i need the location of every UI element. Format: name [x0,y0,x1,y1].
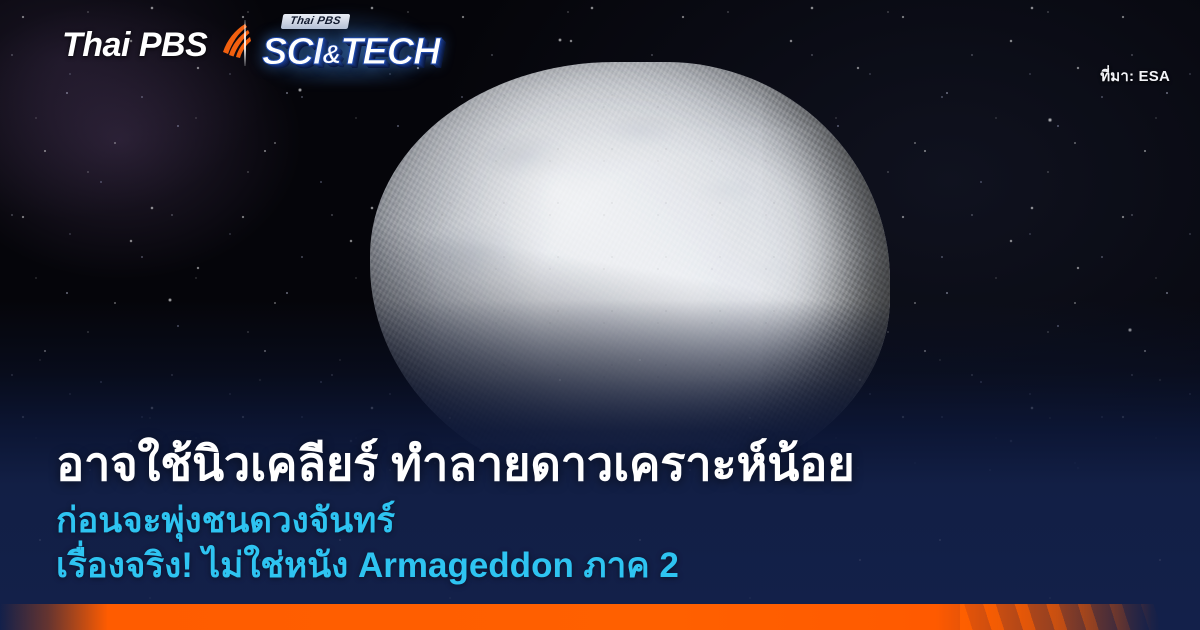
header-divider [244,20,246,66]
orange-slashes-decoration [960,604,1160,630]
subheading-line-2: เรื่องจริง! ไม่ใช่หนัง Armageddon ภาค 2 [56,543,1160,588]
ampersand-label: & [322,39,340,69]
sci-label: SCI [262,31,322,73]
thaipbs-logo[interactable]: Thai PBS [62,26,251,65]
source-credit: ที่มา: ESA [1100,64,1170,88]
header-bar: Thai PBS Thai PBS SCI&TECH [0,0,1200,92]
headline-block: อาจใช้นิวเคลียร์ ทำลายดาวเคราะห์น้อย ก่อ… [56,436,1160,588]
thaipbs-wordmark: Thai PBS [62,26,207,65]
sci-tech-logo[interactable]: Thai PBS SCI&TECH [262,14,430,76]
news-card: Thai PBS Thai PBS SCI&TECH ที่มา: ESA อา… [0,0,1200,630]
bottom-stripe [0,600,1200,630]
subheading-line-1: ก่อนจะพุ่งชนดวงจันทร์ [56,498,1160,543]
sci-tech-wordmark: SCI&TECH [262,30,440,76]
sci-tech-chip: Thai PBS [281,14,350,29]
sci-tech-chip-label: Thai PBS [289,15,342,27]
tech-label: TECH [340,31,439,73]
page-title: อาจใช้นิวเคลียร์ ทำลายดาวเคราะห์น้อย [56,436,1160,492]
